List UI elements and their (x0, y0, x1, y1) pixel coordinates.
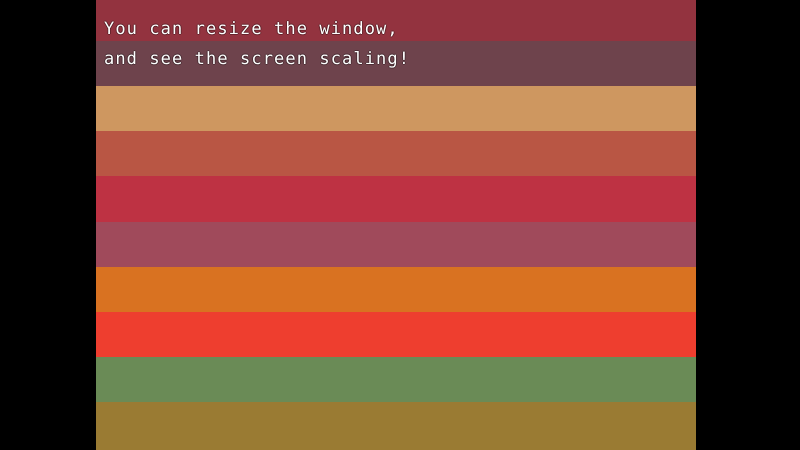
game-viewport[interactable]: You can resize the window, and see the s… (96, 0, 696, 450)
app-window: You can resize the window, and see the s… (0, 0, 800, 450)
band-orange (96, 267, 696, 312)
band-raspberry (96, 176, 696, 222)
band-moss-green (96, 357, 696, 402)
band-crimson-dark (96, 0, 696, 41)
band-tomato-red (96, 312, 696, 357)
band-dusty-rose (96, 222, 696, 267)
pillarbox-left (0, 0, 96, 450)
pillarbox-right (696, 0, 800, 450)
band-brick-red (96, 131, 696, 176)
band-mustard-olive (96, 402, 696, 450)
color-band-stack (96, 0, 696, 450)
band-plum-mauve (96, 41, 696, 86)
band-tan-sand (96, 86, 696, 131)
